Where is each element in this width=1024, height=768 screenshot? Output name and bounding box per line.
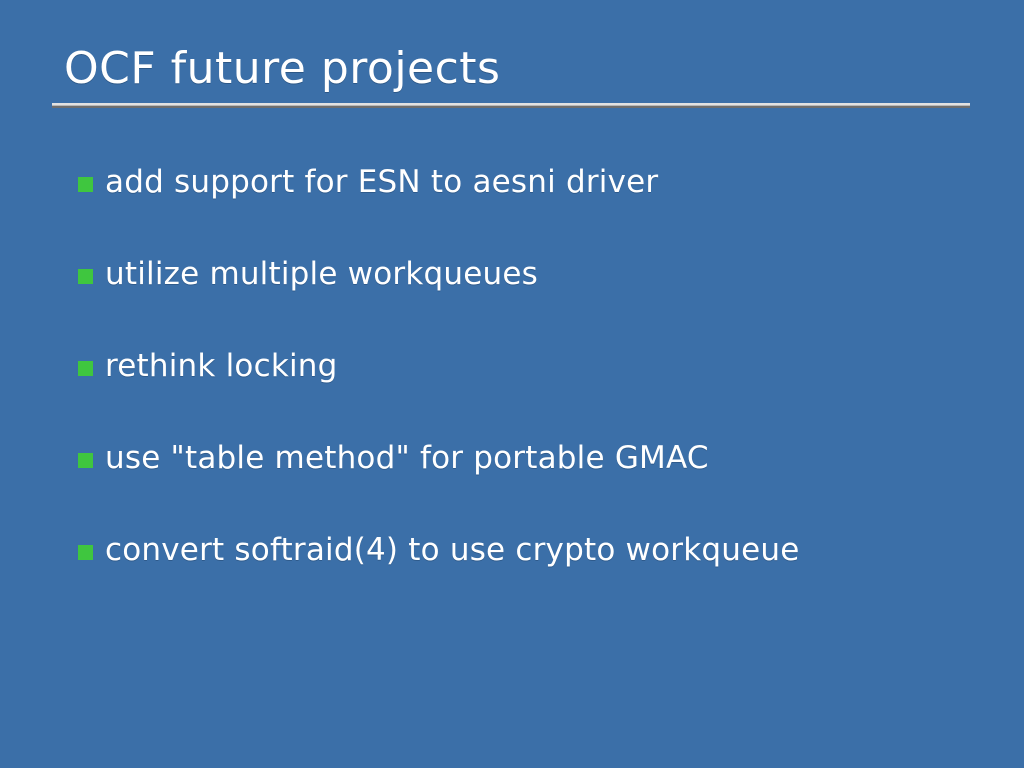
list-item: add support for ESN to aesni driver: [78, 160, 978, 252]
list-item: rethink locking: [78, 344, 978, 436]
list-item: use "table method" for portable GMAC: [78, 436, 978, 528]
green-square-bullet-icon: [78, 361, 93, 376]
list-item: convert softraid(4) to use crypto workqu…: [78, 528, 978, 620]
presentation-slide: OCF future projects add support for ESN …: [0, 0, 1024, 768]
list-item-label: utilize multiple workqueues: [105, 252, 978, 296]
green-square-bullet-icon: [78, 269, 93, 284]
bullet-list: add support for ESN to aesni driver util…: [78, 160, 978, 620]
green-square-bullet-icon: [78, 177, 93, 192]
title-divider-rule: [52, 103, 970, 108]
list-item-label: add support for ESN to aesni driver: [105, 160, 978, 204]
list-item-label: rethink locking: [105, 344, 978, 388]
list-item: utilize multiple workqueues: [78, 252, 978, 344]
list-item-label: use "table method" for portable GMAC: [105, 436, 978, 480]
slide-title-block: OCF future projects: [52, 40, 970, 108]
list-item-label: convert softraid(4) to use crypto workqu…: [105, 528, 978, 572]
page-title: OCF future projects: [52, 40, 970, 98]
green-square-bullet-icon: [78, 545, 93, 560]
green-square-bullet-icon: [78, 453, 93, 468]
